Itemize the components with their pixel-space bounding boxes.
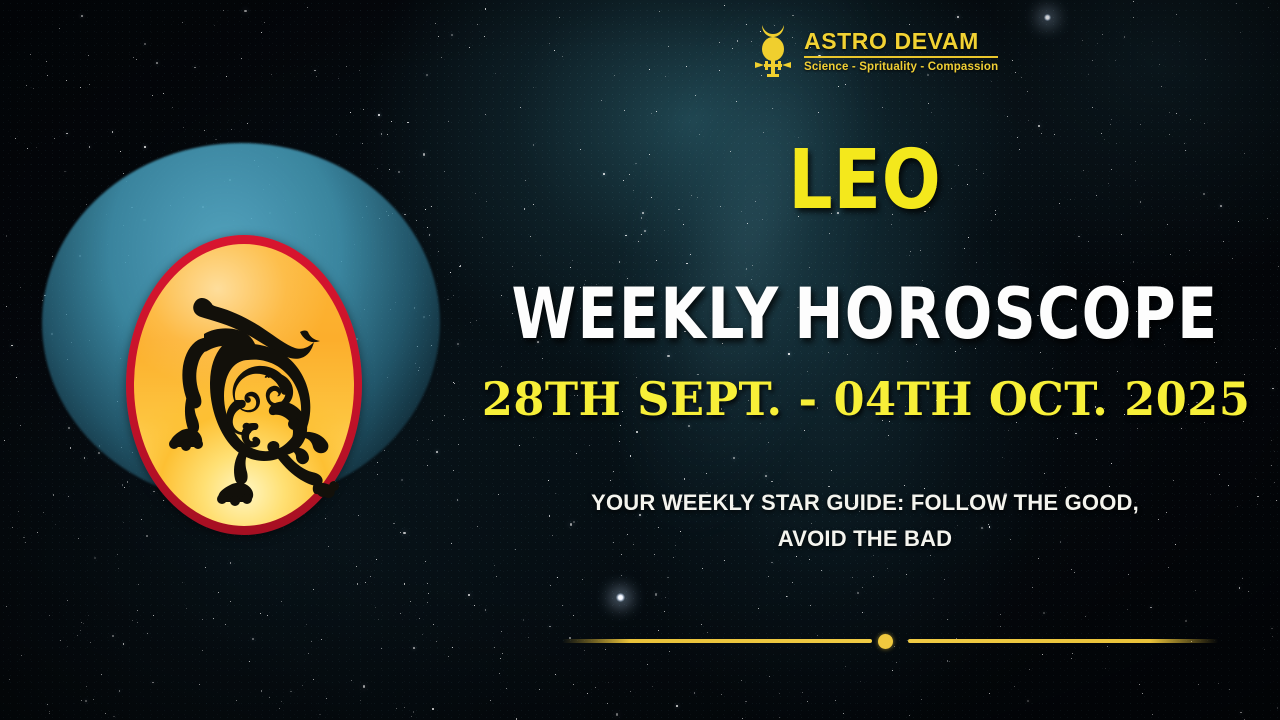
headline-word-weekly: WEEKLY bbox=[511, 273, 779, 355]
tagline: YOUR WEEKLY STAR GUIDE: FOLLOW THE GOOD,… bbox=[470, 485, 1260, 556]
date-range: 28TH SEPT. - 04TH OCT. 2025 bbox=[482, 376, 1248, 422]
brand-name: ASTRO DEVAM bbox=[804, 29, 998, 53]
decorative-divider bbox=[562, 634, 1218, 648]
astro-symbol-icon bbox=[752, 22, 794, 80]
leo-lion-icon bbox=[160, 278, 344, 510]
divider-line-right bbox=[908, 639, 1218, 643]
tagline-line-1: YOUR WEEKLY STAR GUIDE: FOLLOW THE GOOD, bbox=[591, 490, 1139, 515]
brand-logo[interactable]: ASTRO DEVAM Science - Sprituality - Comp… bbox=[752, 22, 998, 80]
brand-divider-rule bbox=[804, 56, 998, 58]
leo-zodiac-emblem bbox=[42, 143, 440, 503]
headline-word-horoscope: HOROSCOPE bbox=[794, 273, 1218, 355]
emblem-disc bbox=[126, 235, 362, 535]
headline: WEEKLYHOROSCOPE bbox=[498, 279, 1233, 349]
horoscope-poster: ASTRO DEVAM Science - Sprituality - Comp… bbox=[0, 0, 1280, 720]
emblem-sun-face bbox=[134, 244, 354, 526]
divider-line-left bbox=[562, 639, 872, 643]
brand-words: ASTRO DEVAM Science - Sprituality - Comp… bbox=[804, 29, 998, 74]
tagline-line-2: AVOID THE BAD bbox=[470, 521, 1260, 557]
divider-dot-icon bbox=[878, 634, 893, 649]
poster-content: LEO WEEKLYHOROSCOPE 28TH SEPT. - 04TH OC… bbox=[470, 140, 1260, 556]
zodiac-sign-title: LEO bbox=[494, 140, 1237, 222]
brand-tagline: Science - Sprituality - Compassion bbox=[804, 61, 998, 74]
